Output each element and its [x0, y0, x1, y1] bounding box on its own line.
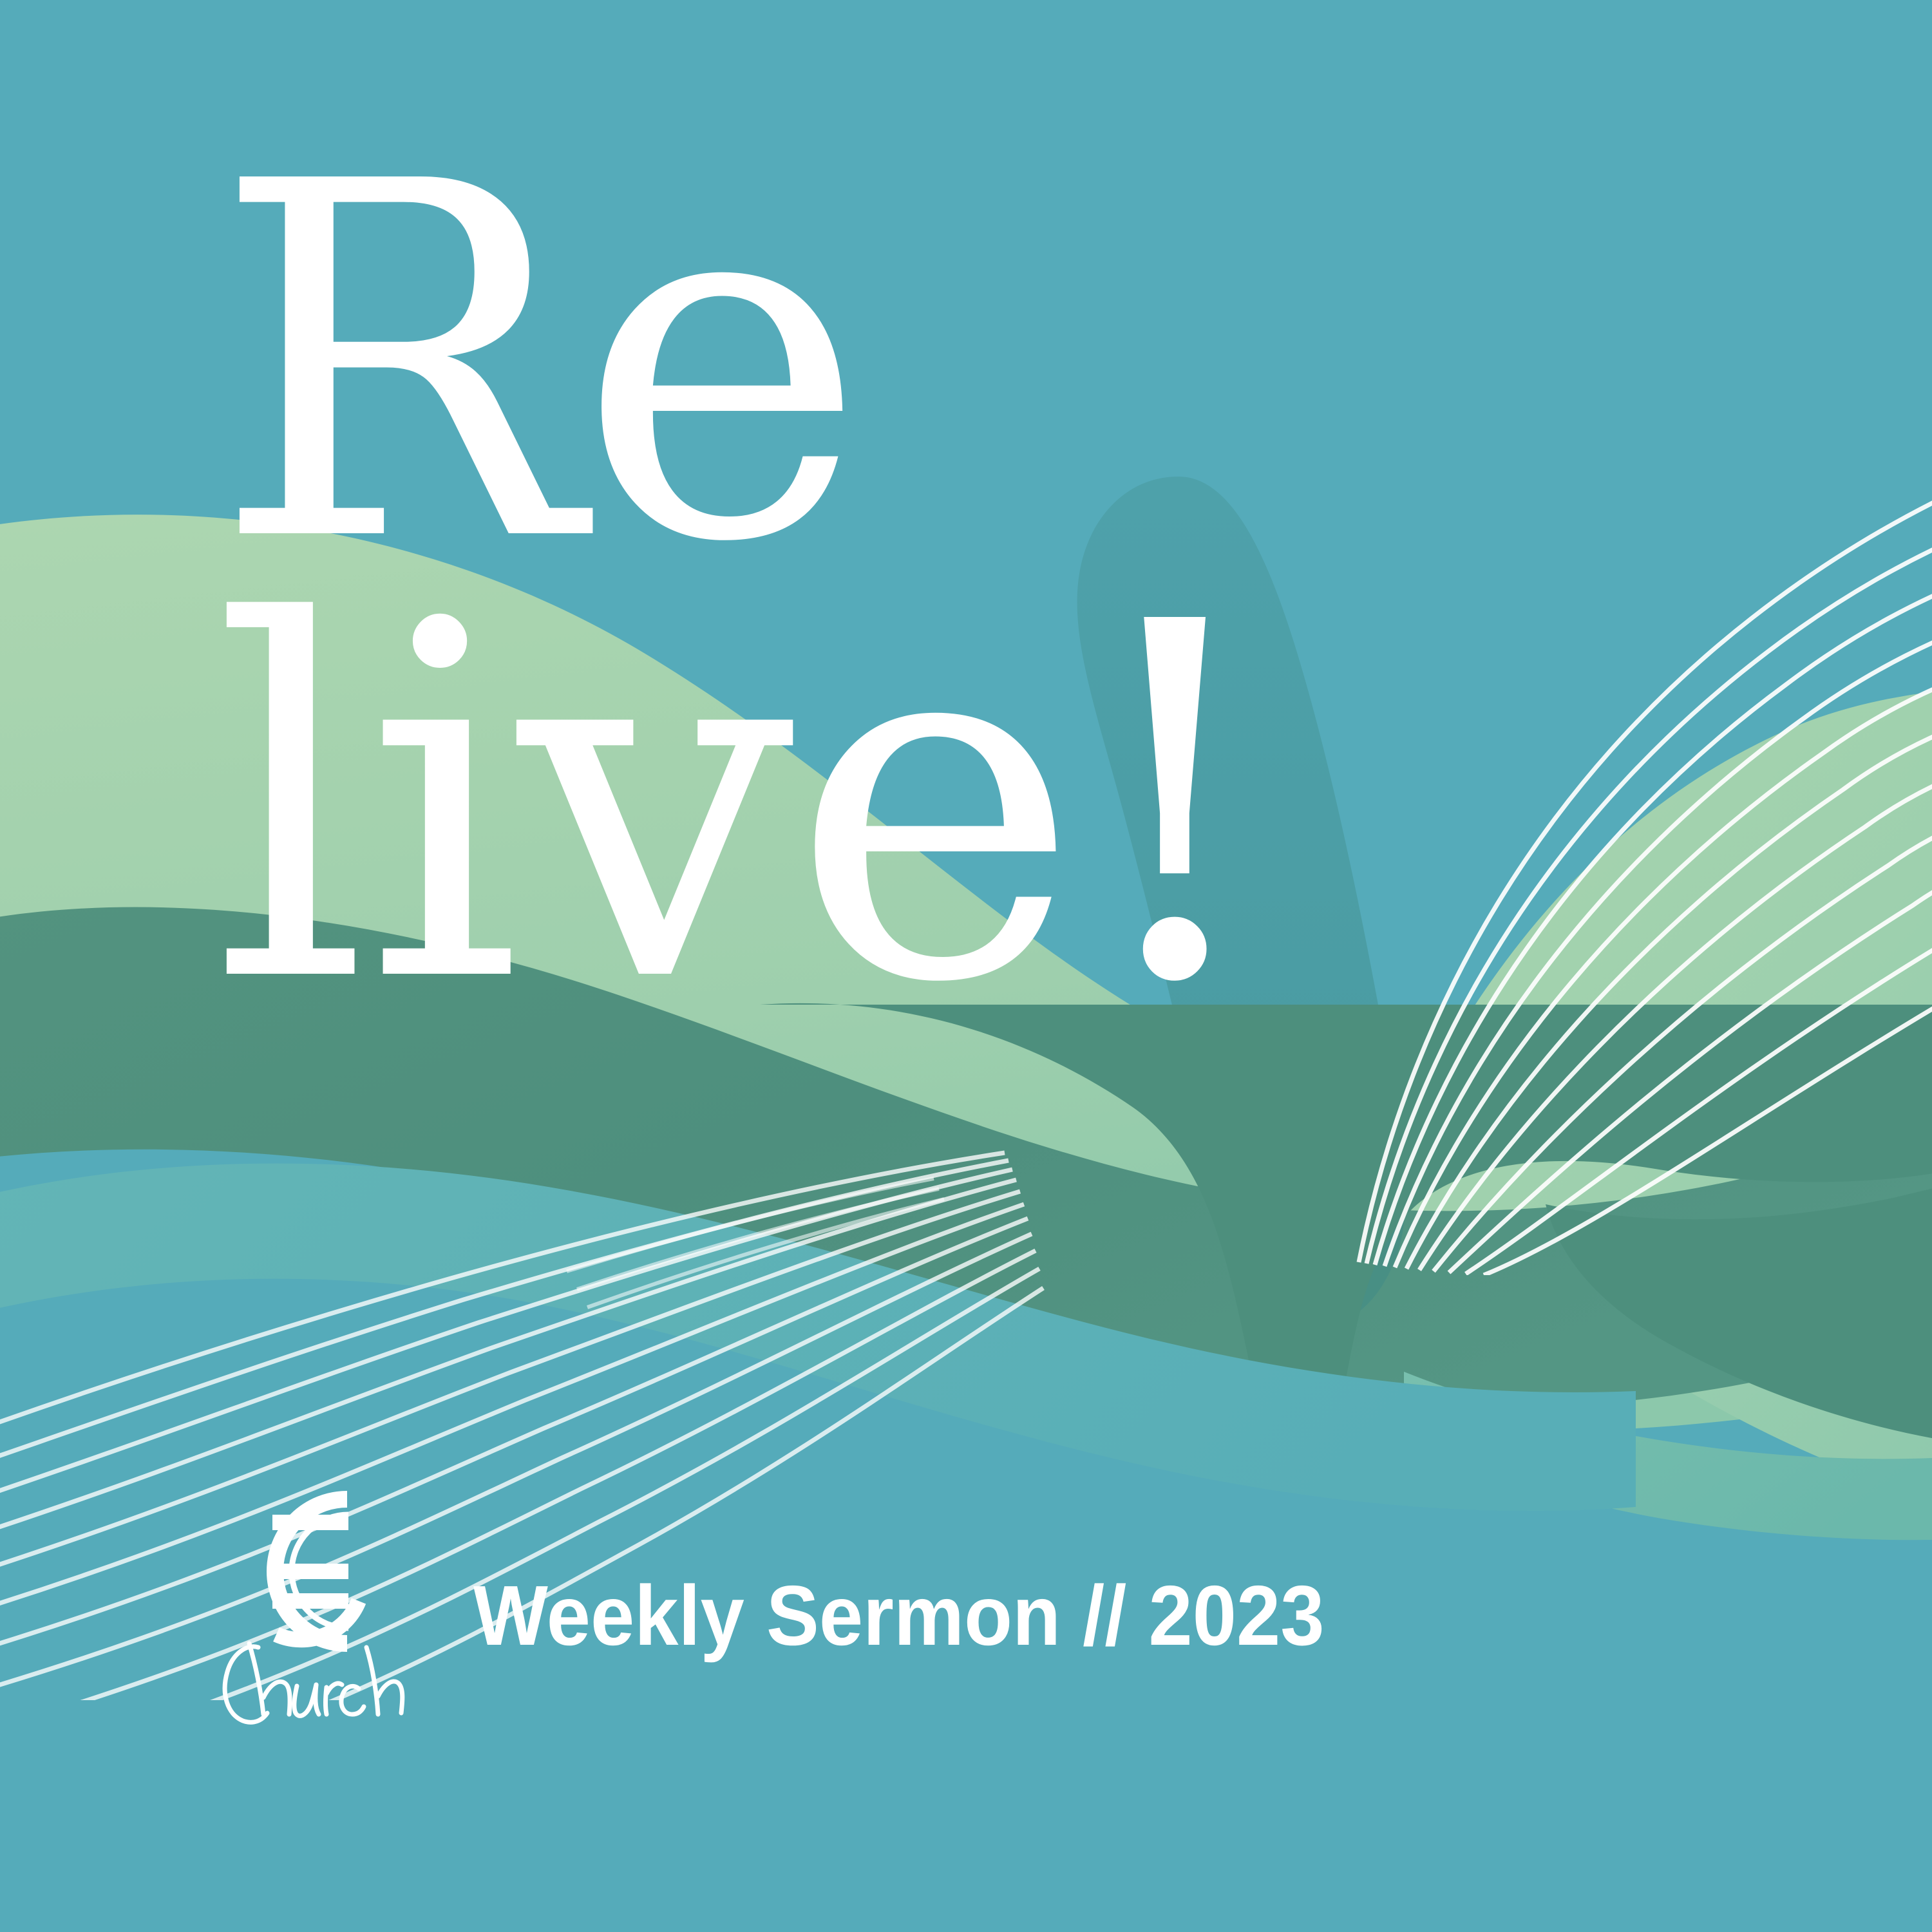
- logo-bar-bottom: [272, 1593, 348, 1609]
- church-logo[interactable]: [209, 1475, 422, 1732]
- logo-bar-top: [272, 1515, 348, 1530]
- logo-bar-middle: [272, 1564, 348, 1579]
- logo-wordmark-church: [225, 1643, 402, 1722]
- footer-bar: Weekly Sermon // 2023: [209, 1468, 1388, 1739]
- footer-caption: Weekly Sermon // 2023: [473, 1567, 1325, 1664]
- cover-artboard: Re live!: [0, 0, 1932, 1932]
- church-logo-mark: [209, 1475, 422, 1732]
